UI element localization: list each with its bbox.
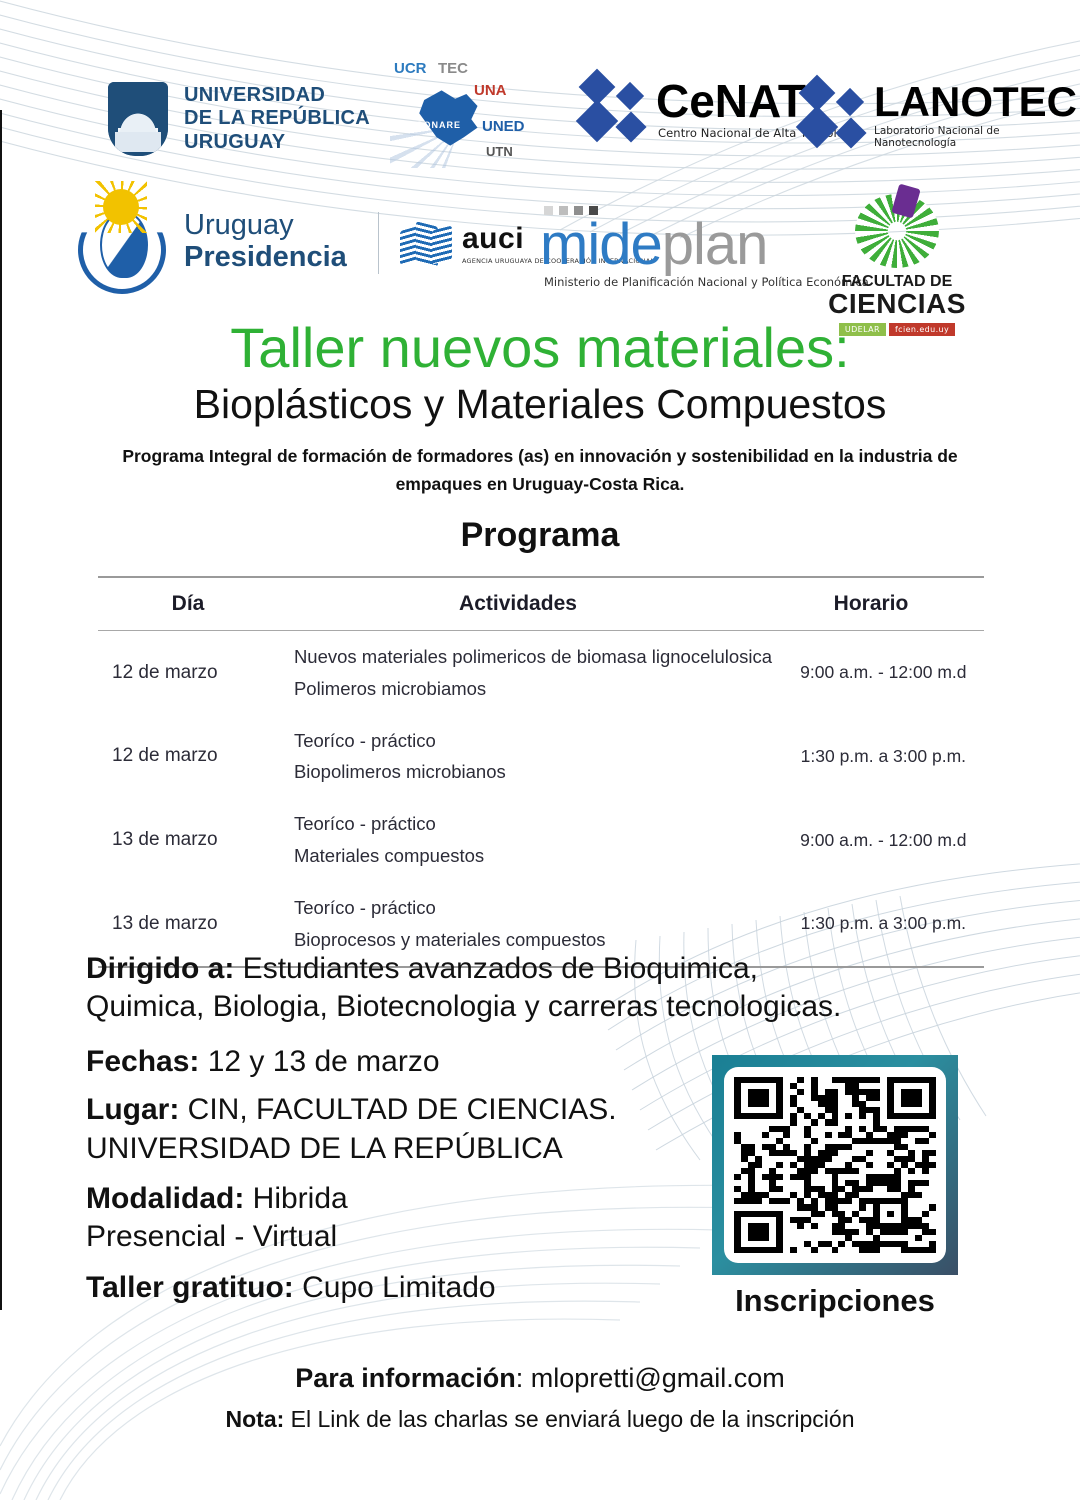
- row-2-horario: 9:00 a.m. - 12:00 m.d: [783, 830, 984, 851]
- info-taller: Taller gratituo: Cupo Limitado: [86, 1269, 706, 1307]
- conare-label-uned: UNED: [482, 118, 525, 135]
- row-0-actividades: Nuevos materiales polimericos de biomasa…: [288, 641, 783, 705]
- row-1-act-2: Biopolimeros microbianos: [294, 756, 783, 788]
- left-edge-rule: [0, 110, 2, 1310]
- info-fechas-value: 12 y 13 de marzo: [199, 1045, 439, 1078]
- footer-note-label: Nota:: [226, 1406, 285, 1432]
- conare-label-ucr: UCR: [394, 60, 427, 77]
- udelar-line-1: UNIVERSIDAD: [184, 84, 370, 108]
- logo-facultad-ciencias: FACULTAD DE CIENCIAS UDELAR fcien.edu.uy: [828, 186, 966, 336]
- program-table: Día Actividades Horario 12 de marzo Nuev…: [98, 576, 984, 968]
- nautilus-shell-icon: [837, 186, 957, 270]
- row-3-act-1: Teoríco - práctico: [294, 892, 783, 924]
- row-3-dia: 13 de marzo: [98, 913, 288, 935]
- poster-program-description: Programa Integral de formación de formad…: [110, 442, 970, 498]
- row-3-actividades: Teoríco - práctico Bioprocesos y materia…: [288, 892, 783, 956]
- footer-note: Nota: El Link de las charlas se enviará …: [0, 1402, 1080, 1437]
- table-row: 12 de marzo Teoríco - práctico Biopolime…: [98, 715, 984, 799]
- presidencia-wordmark: Uruguay Presidencia: [184, 210, 347, 274]
- program-heading: Programa: [0, 516, 1080, 555]
- poster-title: Taller nuevos materiales:: [0, 318, 1080, 378]
- info-modalidad-line2: Presencial - Virtual: [86, 1218, 706, 1256]
- conare-label-conare: CONARE: [416, 120, 461, 130]
- poster-root: UNIVERSIDAD DE LA REPÚBLICA URUGUAY UCR …: [0, 0, 1080, 1500]
- qr-frame[interactable]: [712, 1055, 958, 1275]
- row-0-act-2: Polimeros microbiamos: [294, 673, 783, 705]
- mideplan-subtitle: Ministerio de Planificación Nacional y P…: [544, 275, 869, 289]
- table-col-horario: Horario: [758, 592, 984, 616]
- presidencia-line-1: Uruguay: [184, 210, 347, 242]
- row-2-actividades: Teoríco - práctico Materiales compuestos: [288, 808, 783, 872]
- qr-code-icon[interactable]: [734, 1077, 936, 1253]
- row-3-horario: 1:30 p.m. a 3:00 p.m.: [783, 913, 984, 934]
- lanotec-diamond-icon: [800, 78, 874, 152]
- table-header-row: Día Actividades Horario: [98, 578, 984, 630]
- footer-block: Para información: mlopretti@gmail.com No…: [0, 1360, 1080, 1436]
- row-0-dia: 12 de marzo: [98, 662, 288, 684]
- mideplan-word-gray: plan: [662, 212, 768, 277]
- cenat-diamond-icon: [580, 72, 654, 146]
- info-modalidad: Modalidad: Hibrida: [86, 1180, 706, 1218]
- table-row: 13 de marzo Teoríco - práctico Materiale…: [98, 798, 984, 882]
- udelar-shield-icon: [108, 82, 168, 156]
- row-2-dia: 13 de marzo: [98, 829, 288, 851]
- row-1-actividades: Teoríco - práctico Biopolimeros microbia…: [288, 725, 783, 789]
- qr-caption: Inscripciones: [712, 1283, 958, 1319]
- info-fechas-label: Fechas:: [86, 1045, 199, 1078]
- info-dirigido-line2: Quimica, Biologia, Biotecnologia y carre…: [86, 988, 996, 1026]
- footer-contact-value: : mlopretti@gmail.com: [516, 1363, 785, 1393]
- logo-divider: [378, 212, 379, 274]
- logo-conare: UCR TEC UNA UNED UTN CONARE: [390, 58, 550, 168]
- info-taller-value: Cupo Limitado: [294, 1271, 496, 1304]
- uruguay-coat-of-arms-icon: [78, 190, 166, 294]
- footer-note-value: El Link de las charlas se enviará luego …: [284, 1406, 854, 1432]
- info-lugar-label: Lugar:: [86, 1093, 179, 1126]
- logo-mideplan: mideplan Ministerio de Planificación Nac…: [540, 206, 869, 289]
- info-lugar: Lugar: CIN, FACULTAD DE CIENCIAS.: [86, 1091, 706, 1129]
- qr-inner: [724, 1067, 946, 1263]
- footer-contact-label: Para información: [295, 1363, 516, 1393]
- row-2-act-2: Materiales compuestos: [294, 840, 783, 872]
- conare-label-utn: UTN: [486, 144, 513, 159]
- row-1-horario: 1:30 p.m. a 3:00 p.m.: [783, 746, 984, 767]
- info-lugar-line2: UNIVERSIDAD DE LA REPÚBLICA: [86, 1130, 706, 1168]
- auci-handshake-icon: [400, 222, 452, 268]
- row-1-act-1: Teoríco - práctico: [294, 725, 783, 757]
- udelar-wordmark: UNIVERSIDAD DE LA REPÚBLICA URUGUAY: [184, 84, 370, 155]
- info-dirigido-label: Dirigido a:: [86, 952, 234, 985]
- info-dirigido-value: Estudiantes avanzados de Bioquimica,: [234, 952, 758, 985]
- udelar-line-2: DE LA REPÚBLICA: [184, 107, 370, 131]
- info-lugar-value: CIN, FACULTAD DE CIENCIAS.: [179, 1093, 616, 1126]
- footer-contact: Para información: mlopretti@gmail.com: [0, 1360, 1080, 1398]
- fciencias-line-2: CIENCIAS: [828, 290, 966, 319]
- info-taller-label: Taller gratituo:: [86, 1271, 294, 1304]
- row-0-horario: 9:00 a.m. - 12:00 m.d: [783, 662, 984, 683]
- table-col-dia: Día: [98, 592, 278, 616]
- title-block: Taller nuevos materiales: Bioplásticos y…: [0, 318, 1080, 498]
- conare-label-tec: TEC: [438, 60, 468, 77]
- mideplan-word-blue: mide: [540, 212, 662, 277]
- poster-subtitle: Bioplásticos y Materiales Compuestos: [0, 382, 1080, 427]
- conare-label-una: UNA: [474, 82, 507, 99]
- logo-lanotec: LANOTEC Laboratorio Nacional de Nanotecn…: [800, 78, 1080, 152]
- row-0-act-1: Nuevos materiales polimericos de biomasa…: [294, 641, 783, 673]
- row-2-act-1: Teoríco - práctico: [294, 808, 783, 840]
- lanotec-subtitle: Laboratorio Nacional de Nanotecnología: [874, 125, 1080, 149]
- table-row: 12 de marzo Nuevos materiales polimerico…: [98, 631, 984, 715]
- lanotec-wordmark: LANOTEC: [874, 81, 1080, 123]
- presidencia-line-2: Presidencia: [184, 242, 347, 274]
- logo-udelar: UNIVERSIDAD DE LA REPÚBLICA URUGUAY: [108, 82, 370, 156]
- mideplan-wordmark: mideplan: [540, 217, 869, 272]
- row-1-dia: 12 de marzo: [98, 745, 288, 767]
- info-fechas: Fechas: 12 y 13 de marzo: [86, 1043, 706, 1081]
- info-modalidad-value: Hibrida: [244, 1182, 347, 1215]
- logo-presidencia: Uruguay Presidencia: [78, 190, 347, 294]
- inscripciones-qr-block[interactable]: Inscripciones: [712, 1055, 958, 1319]
- table-col-actividades: Actividades: [278, 592, 758, 616]
- info-modalidad-label: Modalidad:: [86, 1182, 244, 1215]
- udelar-line-3: URUGUAY: [184, 131, 370, 155]
- info-dirigido: Dirigido a: Estudiantes avanzados de Bio…: [86, 950, 996, 988]
